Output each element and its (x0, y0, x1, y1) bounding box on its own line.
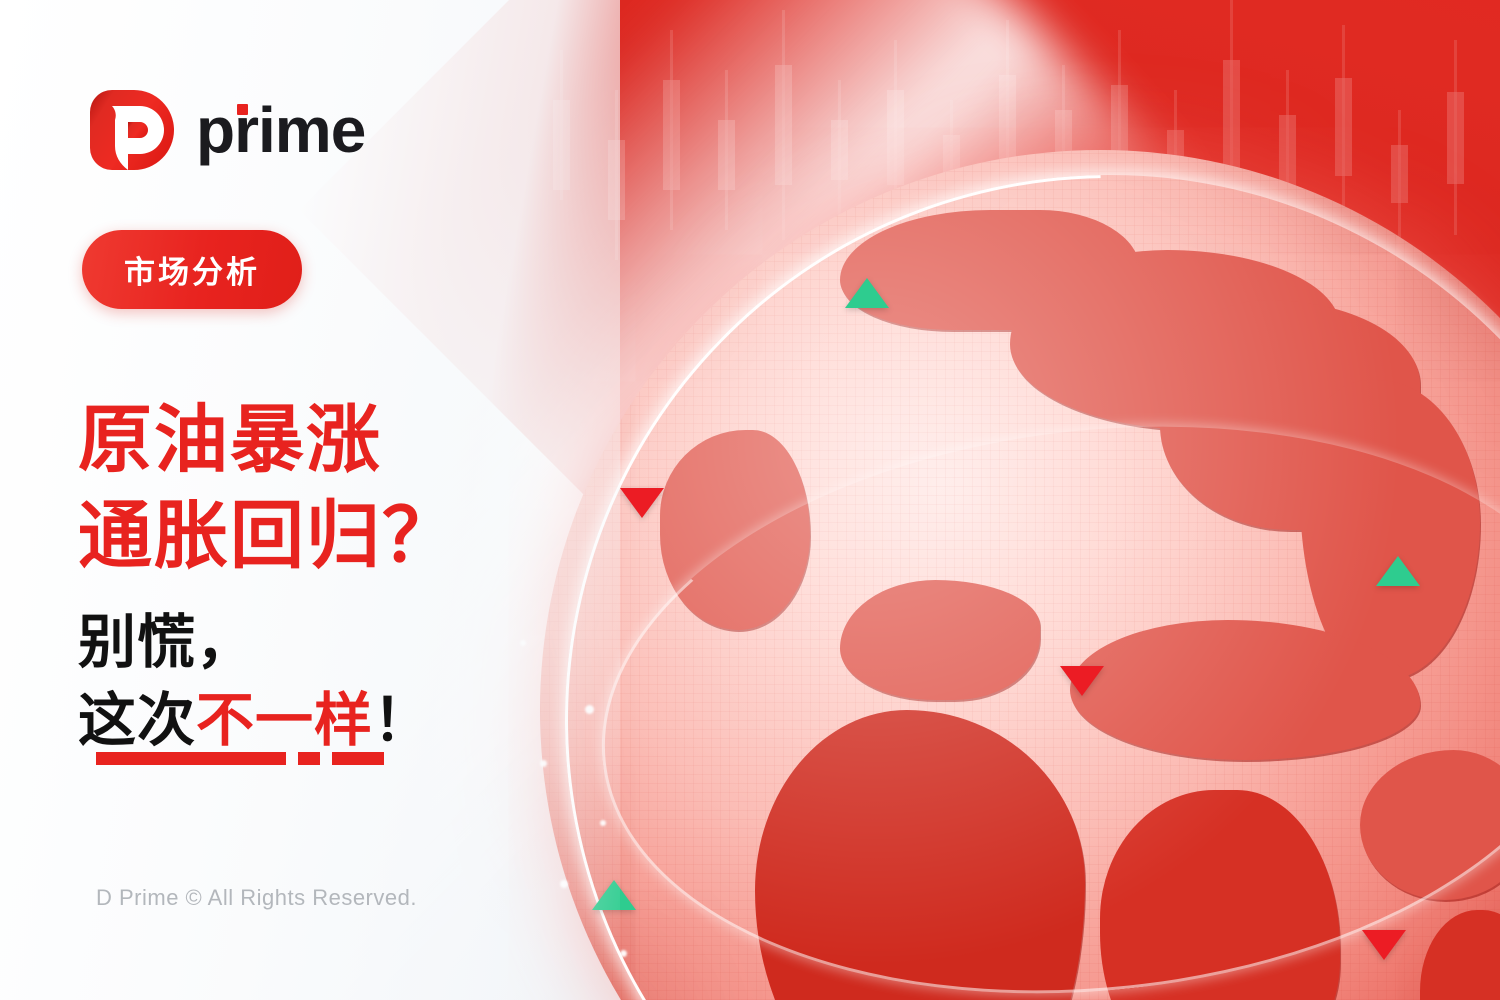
emphasis-underline (96, 752, 384, 765)
underline-segment (298, 752, 320, 765)
globe-grid-overlay (540, 150, 1500, 1000)
brand-logo[interactable]: prime (82, 82, 365, 178)
promo-banner: prime 市场分析 原油暴涨 通胀回归？ 别慌， 这次不一样！ D Prime… (0, 0, 1500, 1000)
subheadline: 别慌， 这次不一样！ (78, 604, 432, 759)
globe-icon (540, 150, 1500, 1000)
subheadline-highlight: 不一样 (196, 688, 373, 753)
triangle-up-icon (1376, 556, 1420, 586)
triangle-down-icon (1362, 930, 1406, 960)
subheadline-prefix: 这次 (78, 688, 196, 753)
triangle-up-icon (845, 278, 889, 308)
i-dot-accent (237, 104, 248, 115)
underline-segment (332, 752, 384, 765)
headline-line-2: 通胀回归？ (78, 488, 458, 584)
subheadline-line-1: 别慌， (78, 604, 432, 682)
headline-line-1: 原油暴涨 (78, 392, 458, 488)
subheadline-line-2: 这次不一样！ (78, 682, 432, 760)
candlestick-chart-icon (520, 0, 1500, 530)
d-prime-logo-icon (82, 82, 178, 178)
brand-wordmark: prime (196, 98, 365, 162)
globe-highlight (540, 150, 1500, 1000)
triangle-down-icon (1060, 666, 1104, 696)
orbit-ring-secondary-icon (573, 379, 1500, 1000)
headline: 原油暴涨 通胀回归？ (78, 392, 458, 584)
content-column: prime 市场分析 原油暴涨 通胀回归？ 别慌， 这次不一样！ D Prime… (0, 0, 640, 1000)
wordmark-text: prime (196, 94, 365, 166)
category-badge[interactable]: 市场分析 (82, 230, 302, 309)
underline-segment (96, 752, 286, 765)
copyright-footer: D Prime © All Rights Reserved. (96, 885, 417, 911)
subheadline-suffix: ！ (373, 688, 432, 753)
